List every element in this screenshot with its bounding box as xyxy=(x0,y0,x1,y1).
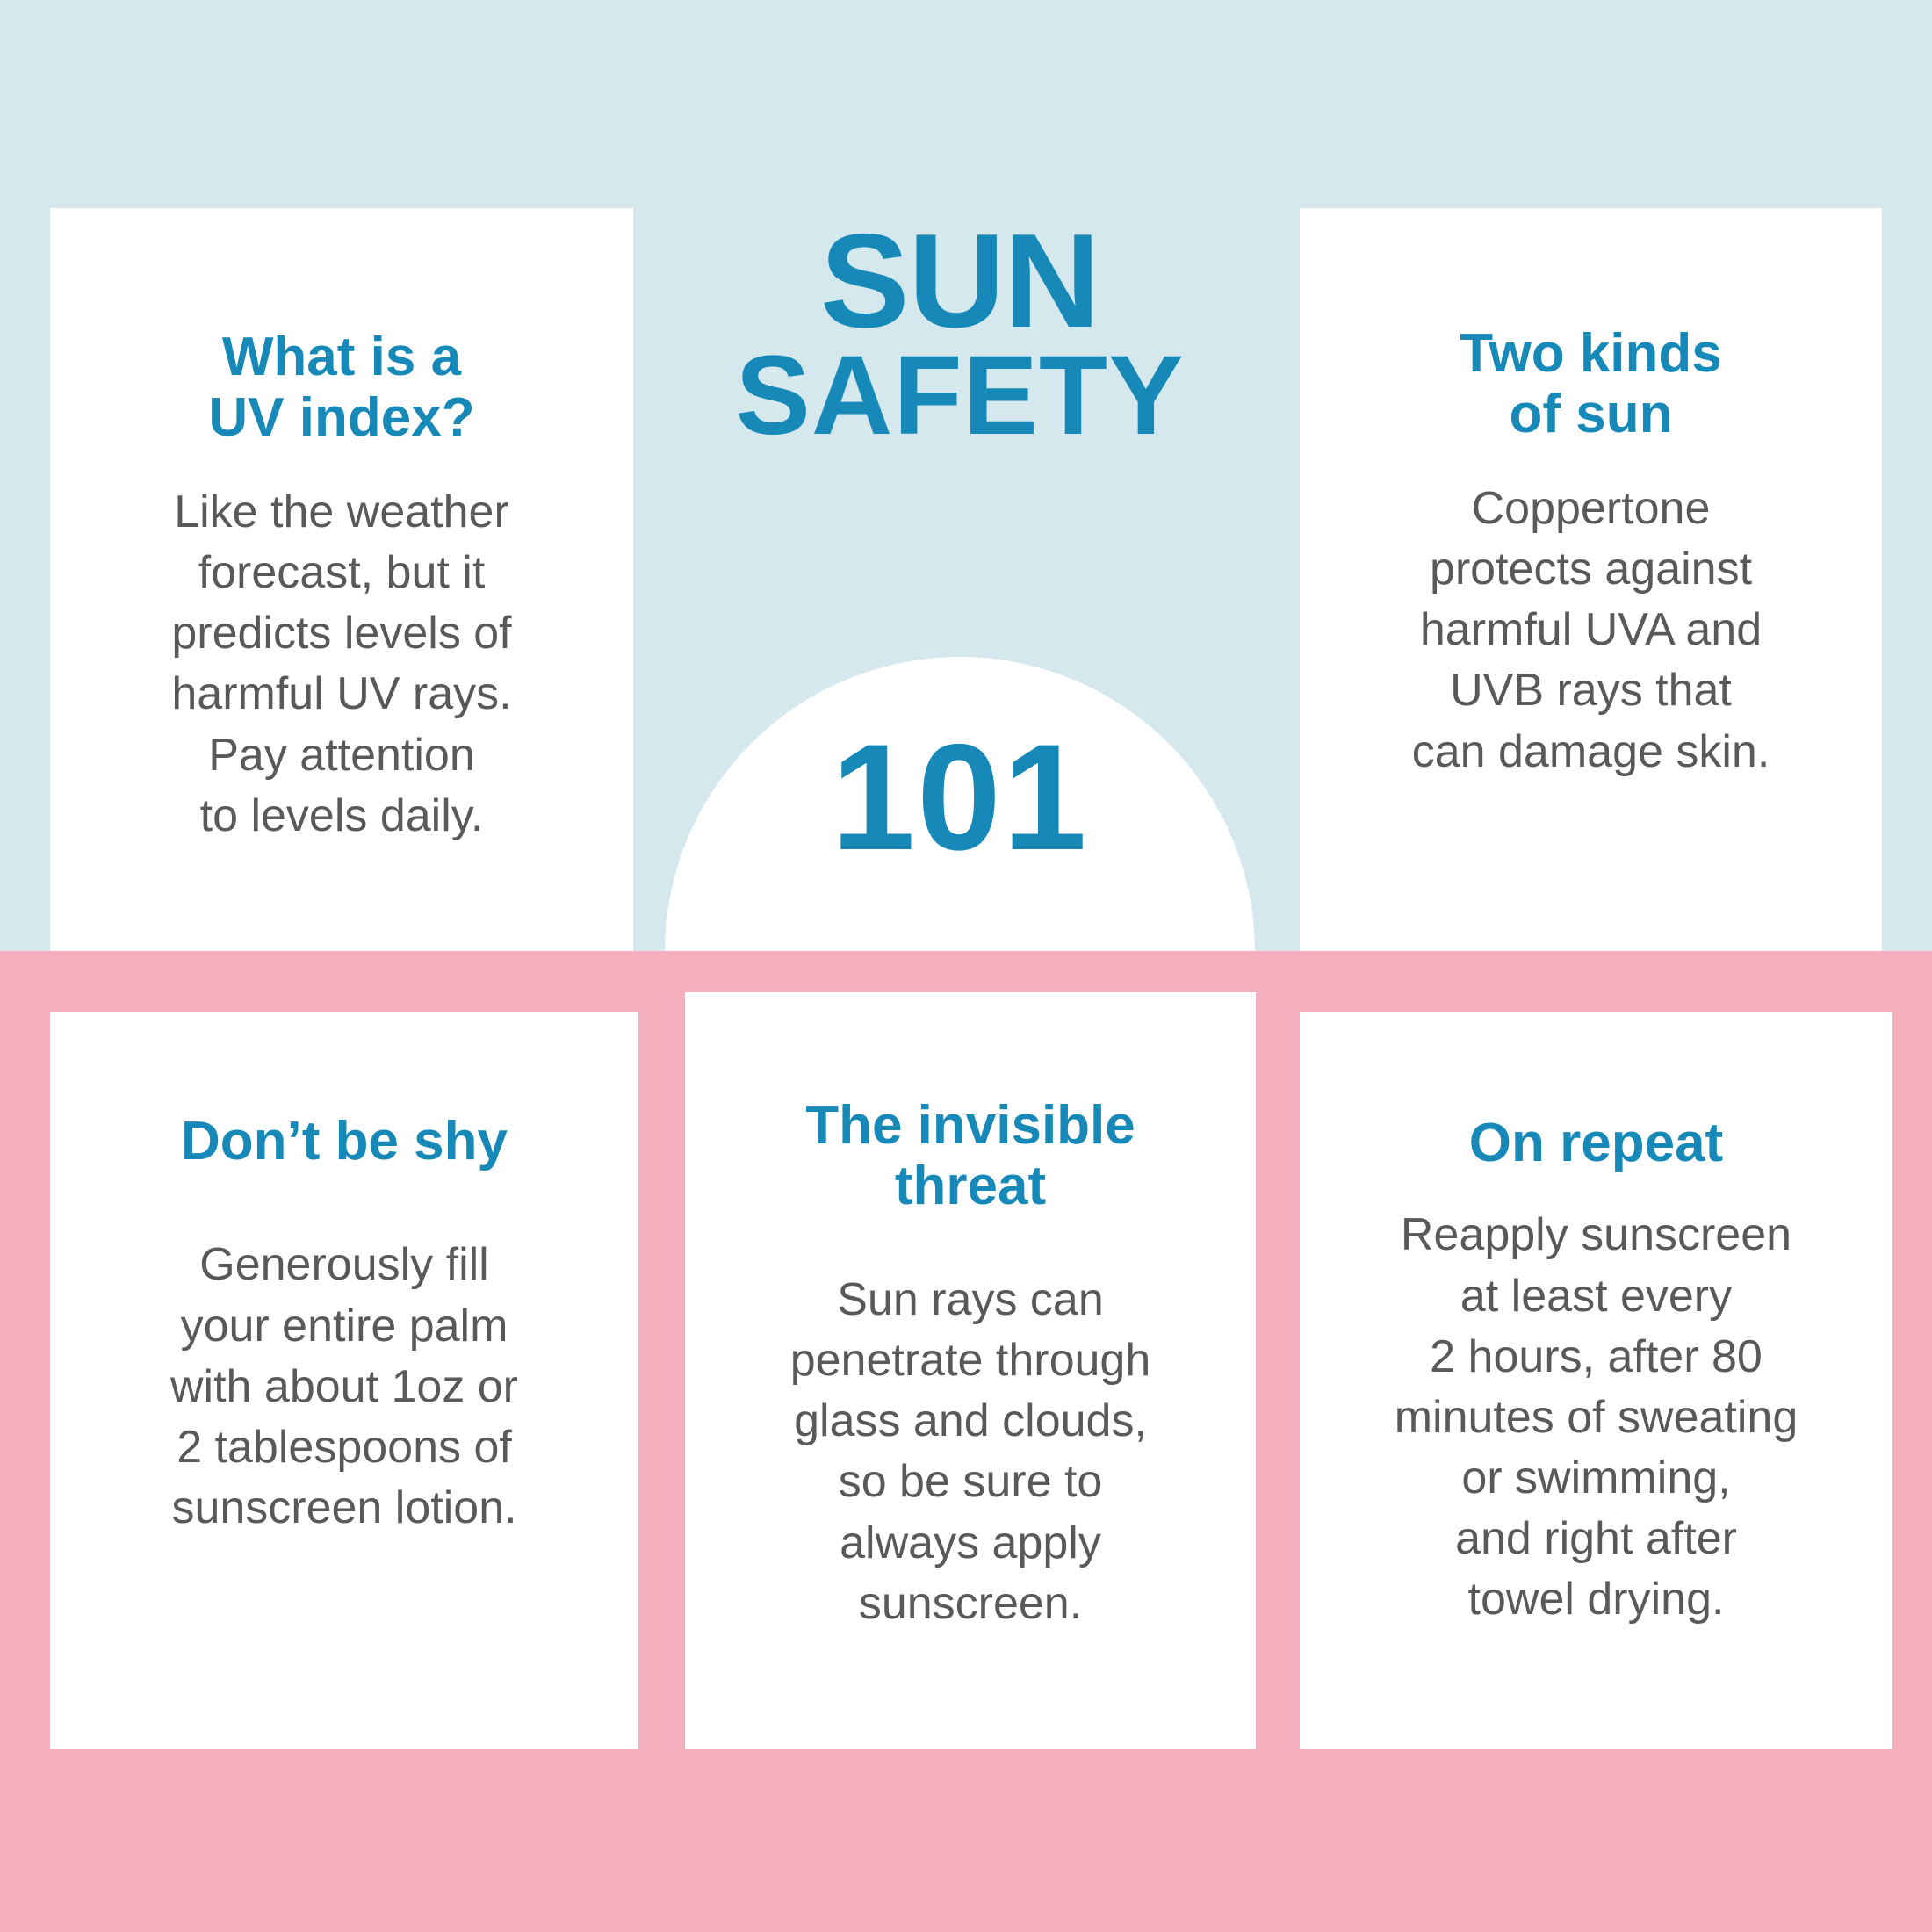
hero-title-line-sun: SUN xyxy=(641,220,1279,343)
infographic-canvas: SUN SAFETY 101 What is a UV index? Like … xyxy=(0,0,1932,1932)
card-dont-be-shy-title: Don’t be shy xyxy=(80,1111,609,1171)
card-on-repeat: On repeat Reapply sunscreen at least eve… xyxy=(1300,1012,1892,1749)
card-two-kinds-of-sun-title: Two kinds of sun xyxy=(1330,323,1852,445)
card-uv-index: What is a UV index? Like the weather for… xyxy=(50,208,633,951)
hero-badge-101: 101 xyxy=(665,722,1255,873)
card-two-kinds-of-sun: Two kinds of sun Coppertone protects aga… xyxy=(1300,208,1882,951)
card-uv-index-title: What is a UV index? xyxy=(80,327,603,449)
card-on-repeat-body: Reapply sunscreen at least every 2 hours… xyxy=(1330,1205,1863,1630)
card-two-kinds-of-sun-body: Coppertone protects against harmful UVA … xyxy=(1330,479,1852,782)
card-invisible-threat: The invisible threat Sun rays can penetr… xyxy=(685,992,1256,1749)
card-invisible-threat-title: The invisible threat xyxy=(715,1095,1226,1217)
card-dont-be-shy: Don’t be shy Generously fill your entire… xyxy=(50,1012,638,1749)
card-dont-be-shy-body: Generously fill your entire palm with ab… xyxy=(80,1235,609,1539)
hero-title: SUN SAFETY xyxy=(641,220,1279,448)
card-on-repeat-title: On repeat xyxy=(1330,1113,1863,1173)
card-invisible-threat-body: Sun rays can penetrate through glass and… xyxy=(715,1270,1226,1634)
hero-title-line-safety: SAFETY xyxy=(641,343,1279,448)
card-uv-index-body: Like the weather forecast, but it predic… xyxy=(80,482,603,847)
